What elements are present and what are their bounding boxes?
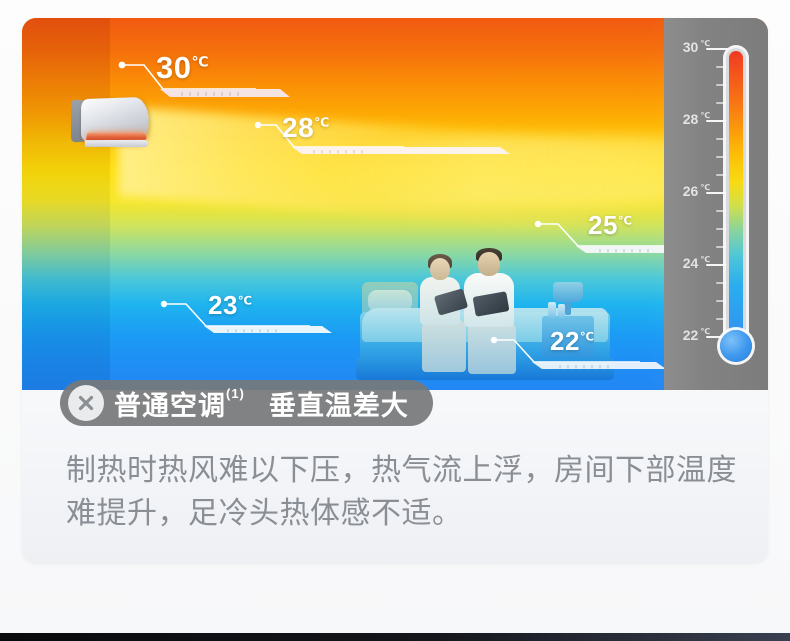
temperature-value-25: 25℃ <box>588 210 632 241</box>
thermometer-panel: 30℃ 28℃ 26℃ 24℃ 22℃ <box>664 18 768 390</box>
temperature-value-30: 30℃ <box>156 50 208 86</box>
temperature-callout-30: 30℃ <box>118 50 348 108</box>
temperature-value-22: 22℃ <box>550 326 594 357</box>
callout-leader-line-icon <box>118 50 348 108</box>
temperature-callout-23: 23℃ <box>160 290 350 340</box>
thermometer-scale: 30℃ 28℃ 26℃ 24℃ 22℃ <box>664 18 768 390</box>
thermometer-label-24: 24℃ <box>668 255 710 271</box>
temperature-callout-22: 22℃ <box>490 326 680 376</box>
thermometer-label-22: 22℃ <box>668 327 710 343</box>
badge-title: 普通空调(1) <box>114 384 245 423</box>
callout-leader-line-icon <box>160 290 350 340</box>
bedside-bottle-b <box>558 304 565 318</box>
person-woman-head <box>430 258 450 280</box>
ac-louver <box>85 140 149 147</box>
page-root: 30℃ 28℃ <box>0 0 790 641</box>
bottom-strip <box>0 633 790 641</box>
status-badge: 普通空调(1) 垂直温差大 <box>60 380 433 426</box>
thermometer-label-26: 26℃ <box>668 183 710 199</box>
person-man-head <box>478 252 500 276</box>
thermometer-gradient-fill <box>729 51 743 344</box>
badge-superscript: (1) <box>226 387 245 400</box>
description-text: 制热时热风难以下压，热气流上浮，房间下部温度难提升，足冷头热体感不适。 <box>66 450 738 535</box>
left-wall-shading <box>22 18 110 390</box>
cross-circle-icon <box>68 385 104 421</box>
temperature-callout-28: 28℃ <box>254 112 484 164</box>
badge-subtitle: 垂直温差大 <box>269 384 409 423</box>
lamp-stem <box>565 301 571 315</box>
thermometer-tube <box>726 48 746 344</box>
person-woman-legs <box>422 320 466 372</box>
temperature-value-23: 23℃ <box>208 290 252 321</box>
bedside-bottle-a <box>548 302 556 318</box>
thermometer-bulb <box>720 330 752 362</box>
feature-card: 30℃ 28℃ <box>22 18 768 563</box>
lamp-shade <box>553 282 583 302</box>
hero-thermal-image: 30℃ 28℃ <box>22 18 768 390</box>
thermometer-label-30: 30℃ <box>668 39 710 55</box>
temperature-value-28: 28℃ <box>282 112 329 144</box>
thermometer-label-28: 28℃ <box>668 111 710 127</box>
